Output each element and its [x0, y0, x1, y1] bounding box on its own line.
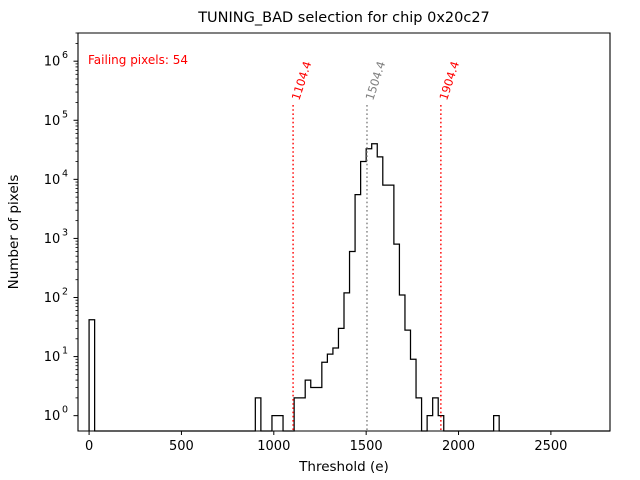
chart-figure: 1104.41504.41904.40500100015002000250010… [0, 0, 640, 480]
ytick-label-1e5: 10 [44, 114, 61, 129]
ytick-exponent-2: 2 [62, 287, 68, 298]
chart-title: TUNING_BAD selection for chip 0x20c27 [197, 10, 490, 26]
vline-label-1504.4: 1504.4 [363, 59, 389, 102]
ytick-label-1e6: 10 [44, 55, 61, 70]
histogram-chart: 1104.41504.41904.40500100015002000250010… [0, 0, 640, 480]
axes-frame [78, 33, 610, 431]
ytick-exponent-3: 3 [62, 227, 68, 238]
ytick-label-1e2: 10 [44, 291, 61, 306]
xtick-label-0: 0 [85, 439, 93, 454]
xtick-label-500: 500 [169, 439, 194, 454]
xtick-label-2000: 2000 [442, 439, 475, 454]
xtick-label-1500: 1500 [350, 439, 383, 454]
ytick-label-1e1: 10 [44, 350, 61, 365]
ytick-exponent-6: 6 [62, 50, 68, 61]
ytick-exponent-4: 4 [62, 168, 68, 179]
vline-label-1904.4: 1904.4 [436, 59, 462, 102]
ytick-exponent-5: 5 [62, 109, 68, 120]
ytick-label-1e3: 10 [44, 232, 61, 247]
xtick-label-2500: 2500 [534, 439, 567, 454]
annotation-failing-pixels: Failing pixels: 54 [88, 53, 188, 67]
ytick-exponent-0: 0 [62, 405, 68, 416]
histogram-steps [89, 144, 610, 431]
x-axis-title: Threshold (e) [298, 459, 389, 475]
vline-label-1104.4: 1104.4 [289, 59, 315, 102]
y-axis-title: Number of pixels [6, 175, 22, 290]
ytick-exponent-1: 1 [62, 346, 68, 357]
ytick-label-1e0: 10 [44, 409, 61, 424]
xtick-label-1000: 1000 [257, 439, 290, 454]
ytick-label-1e4: 10 [44, 173, 61, 188]
